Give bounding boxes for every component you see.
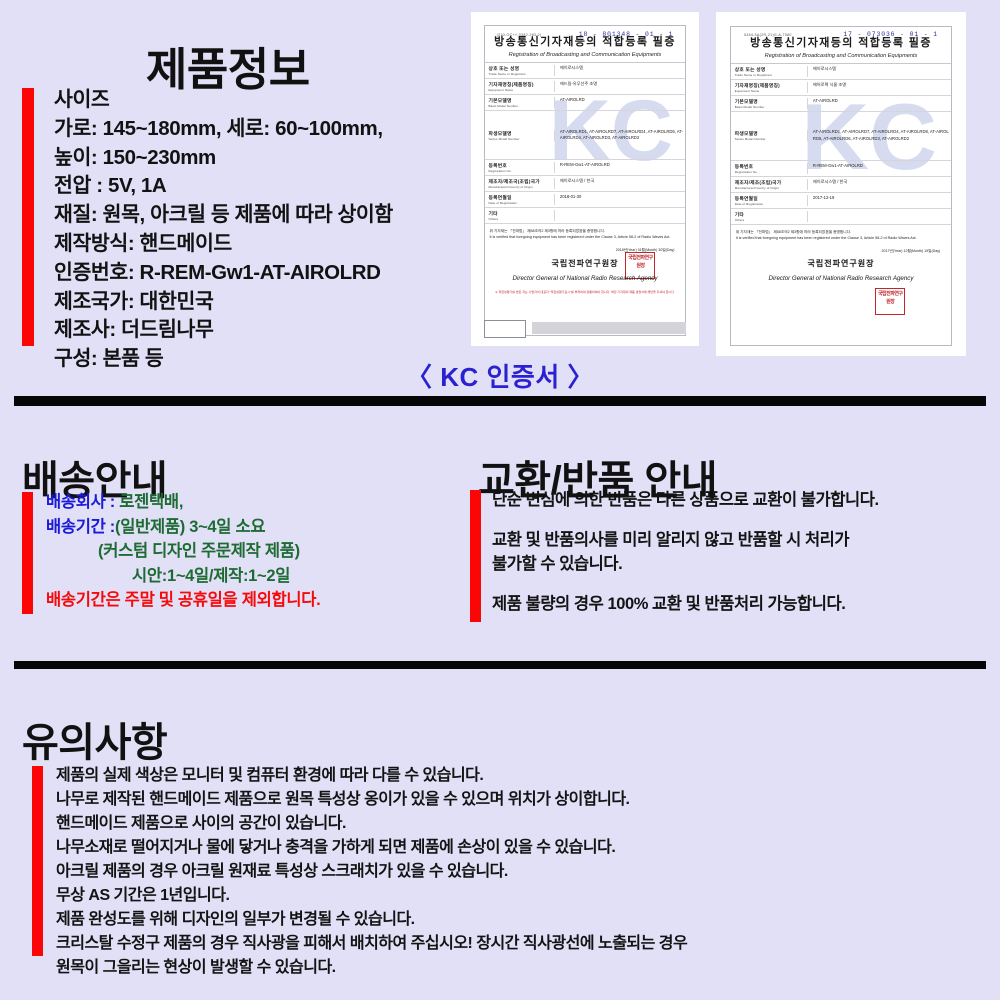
- certificate-field-row: 파생모델명Series Model NumberAT-AIROLRD1, AT-…: [485, 111, 686, 160]
- certificate-field-label: 기자재명칭(제품명칭)Equipment Name: [731, 82, 808, 93]
- certificate-form-code: (210-OC++-0382-283.2): [497, 33, 542, 37]
- certificate-field-label-en: Date of Registration: [735, 202, 807, 206]
- certificate-title-en: Registration of Broadcasting and Communi…: [485, 52, 686, 63]
- certificate-field-row: 등록번호Registration No.R-REM-Gw1-AT-AIROLRD: [731, 161, 952, 177]
- certificate-title-en: Registration of Broadcasting and Communi…: [731, 53, 952, 64]
- certificate-field-row: 등록번호Registration No.R-REM-Gw1-AT-AIROLRD: [485, 160, 686, 176]
- shipping-line-label: 배송회사 :: [46, 493, 119, 511]
- certificate-field-label-en: Series Model Number: [735, 137, 807, 141]
- certificate-field-label-en: Equipment Name: [735, 89, 807, 93]
- certificate-field-label-ko: 등록연월일: [735, 195, 807, 202]
- certificate-field-label-ko: 파생모델명: [735, 130, 807, 137]
- certificate-field-label: 등록번호Registration No.: [731, 163, 808, 174]
- certificate-field-label-en: Registration No.: [489, 169, 554, 173]
- product-spec-line: 제작방식: 핸드메이드: [54, 230, 474, 259]
- product-spec-line: 높이: 150~230mm: [54, 144, 474, 173]
- product-spec-line: 전압 : 5V, 1A: [54, 172, 474, 201]
- certificate-field-table: 상호 또는 성명Trade Name or Registrant에이로시스템기자…: [731, 64, 952, 225]
- certificate-field-label-ko: 기본모델명: [735, 98, 807, 105]
- product-info-accent-bar: [22, 88, 34, 346]
- notice-line: 핸드메이드 제품으로 사이의 공간이 있습니다.: [56, 812, 996, 836]
- exchange-return-paragraph: 교환 및 반품의사를 미리 알리지 않고 반품할 시 처리가불가할 수 있습니다…: [492, 528, 992, 576]
- certificate-agency-ko: 국립전파연구원장: [736, 258, 947, 271]
- shipping-line-label: 배송기간은 주말 및 공휴일을 제외합니다.: [46, 591, 320, 609]
- certificate-field-label-en: Others: [489, 217, 554, 221]
- kc-certificate-right[interactable]: 5484-5A(2R-21)G.A-7080 17 - 073036 - 01 …: [716, 12, 966, 356]
- certificate-field-value: 에이로시스템 / 한국: [555, 178, 686, 189]
- certificate-field-value: 에이로시스템: [808, 66, 951, 77]
- official-seal-stamp: 국립전파연구원장: [875, 288, 905, 315]
- certificate-field-label: 상호 또는 성명Trade Name or Registrant: [485, 65, 555, 76]
- certificate-agency-en: Director General of National Radio Resea…: [736, 274, 947, 284]
- certificate-field-label-ko: 기자재명칭(제품명칭): [489, 81, 554, 88]
- certificate-field-value: R-REM-Gw1-AT-AIROLRD: [555, 162, 686, 173]
- certificate-field-label: 제조자/제조(조립)국가Manufacturer/Country of Orig…: [731, 179, 808, 190]
- certificate-body: 5484-5A(2R-21)G.A-7080 17 - 073036 - 01 …: [730, 26, 953, 346]
- certificate-field-row: 기자재명칭(제품명칭)Equipment Name에어로젝 식물 조명: [731, 80, 952, 96]
- exchange-return-line: 불가할 수 있습니다.: [492, 552, 992, 576]
- notice-line: 원목이 그을리는 현상이 발생할 수 있습니다.: [56, 956, 996, 980]
- shipping-line-label: (커스텀 디자인 주문제작 제품): [98, 542, 300, 560]
- certificate-field-label-ko: 상호 또는 성명: [489, 65, 554, 72]
- exchange-return-paragraph: 제품 불량의 경우 100% 교환 및 반품처리 가능합니다.: [492, 592, 992, 616]
- product-spec-line: 제조국가: 대한민국: [54, 288, 474, 317]
- certificate-field-value: R-REM-Gw1-AT-AIROLRD: [808, 163, 951, 174]
- certificate-field-label: 기타Others: [485, 210, 555, 221]
- shipping-line-value: 로젠택배,: [119, 493, 183, 511]
- certificate-field-value: 에이로시스템: [555, 65, 686, 76]
- certificate-red-note: ※ 적합성평가를 받은 자는 사업자의 대표자 "적합성평가표시"를 부착하여 …: [490, 290, 681, 295]
- certificate-bottom-strip: [484, 320, 687, 336]
- exchange-return-list: 단순 변심에 의한 반품은 다른 상품으로 교환이 불가합니다.교환 및 반품의…: [492, 488, 992, 616]
- product-spec-line: 인증번호: R-REM-Gw1-AT-AIROLRD: [54, 259, 474, 288]
- certificate-field-label-ko: 파생모델명: [489, 130, 554, 137]
- notice-line: 제품의 실제 색상은 모니터 및 컴퓨터 환경에 따라 다를 수 있습니다.: [56, 764, 996, 788]
- certificate-field-label: 기본모델명Basic Model Number: [731, 98, 808, 109]
- certificate-field-row: 기타Others: [485, 208, 686, 224]
- shipping-info-list: 배송회사 : 로젠택배,배송기간 :(일반제품) 3~4일 소요(커스텀 디자인…: [46, 490, 466, 613]
- certificate-footer: 위 기자재는 「전파법」 제58조의2 제3항에 따라 등록되었음을 증명합니다…: [731, 225, 952, 284]
- certificate-field-value: [808, 211, 951, 222]
- certificate-field-value: AT-AIROLRD: [808, 98, 951, 109]
- certificate-field-label-ko: 등록번호: [735, 163, 807, 170]
- certificate-field-label-en: Basic Model Number: [489, 104, 554, 108]
- notices-list: 제품의 실제 색상은 모니터 및 컴퓨터 환경에 따라 다를 수 있습니다.나무…: [56, 764, 996, 980]
- certificate-form-code: 5484-5A(2R-21)G.A-7080: [744, 33, 792, 37]
- certificate-field-row: 기타Others: [731, 209, 952, 225]
- certificate-field-label-en: Trade Name or Registrant: [735, 73, 807, 77]
- product-spec-line: 사이즈: [54, 86, 474, 115]
- certificate-field-row: 등록연월일Date of Registration2017-12-19: [731, 193, 952, 209]
- certificate-field-label: 제조자/제조국(조립)국가Manufacturer/Country of Ori…: [485, 178, 555, 189]
- certificate-body: (210-OC++-0382-283.2) 18 - 801348 - 01 -…: [484, 25, 687, 336]
- certificate-field-label-en: Manufacturer/Country of Origin: [735, 186, 807, 190]
- section-divider-top: [14, 396, 986, 406]
- notice-line: 무상 AS 기간은 1년입니다.: [56, 884, 996, 908]
- shipping-info-line: 시안:1~4일/제작:1~2일: [46, 564, 466, 589]
- certificate-field-row: 상호 또는 성명Trade Name or Registrant에이로시스템: [731, 64, 952, 80]
- certificate-field-row: 등록연월일Date of Registration2018-01-30: [485, 192, 686, 208]
- shipping-info-line: 배송회사 : 로젠택배,: [46, 490, 466, 515]
- certificate-field-label: 기자재명칭(제품명칭)Equipment Name: [485, 81, 555, 92]
- certificate-field-label-ko: 등록연월일: [489, 194, 554, 201]
- product-spec-list: 사이즈가로: 145~180mm, 세로: 60~100mm,높이: 150~2…: [54, 86, 474, 374]
- product-spec-line: 제조사: 더드림나무: [54, 316, 474, 345]
- certificate-field-label-en: Registration No.: [735, 170, 807, 174]
- product-spec-line: 가로: 145~180mm, 세로: 60~100mm,: [54, 115, 474, 144]
- certificate-bottom-box: [484, 320, 526, 338]
- certificate-field-row: 파생모델명Series Model NumberAT-AIROLRD1, AT-…: [731, 112, 952, 161]
- certificate-field-value: 2018-01-30: [555, 194, 686, 205]
- certificate-bottom-bar: [532, 322, 687, 334]
- certificate-field-table: 상호 또는 성명Trade Name or Registrant에이로시스템기자…: [485, 63, 686, 224]
- product-spec-line: 재질: 원목, 아크릴 등 제품에 따라 상이함: [54, 201, 474, 230]
- certificate-field-label-ko: 상호 또는 성명: [735, 66, 807, 73]
- exchange-return-line: 단순 변심에 의한 반품은 다른 상품으로 교환이 불가합니다.: [492, 488, 992, 512]
- certificate-field-label: 기타Others: [731, 211, 808, 222]
- exchange-return-line: 교환 및 반품의사를 미리 알리지 않고 반품할 시 처리가: [492, 528, 992, 552]
- certificate-field-row: 기본모델명Basic Model NumberAT-AIROLRD: [485, 95, 686, 111]
- notices-accent-bar: [32, 766, 43, 956]
- certificate-field-row: 상호 또는 성명Trade Name or Registrant에이로시스템: [485, 63, 686, 79]
- certificate-field-label-en: Others: [735, 218, 807, 222]
- certificate-field-row: 기본모델명Basic Model NumberAT-AIROLRD: [731, 96, 952, 112]
- shipping-info-line: (커스텀 디자인 주문제작 제품): [46, 539, 466, 564]
- certificate-footer: 위 기자재는 「전파법」 제58조의2 제3항에 따라 등록되었음을 증명합니다…: [485, 224, 686, 294]
- certificate-field-label: 등록연월일Date of Registration: [731, 195, 808, 206]
- kc-certificate-caption: 〈 KC 인증서 〉: [0, 357, 1000, 394]
- notice-line: 크리스탈 수정구 제품의 경우 직사광을 피해서 배치하여 주십시오! 장시간 …: [56, 932, 996, 956]
- section-divider-bottom: [14, 661, 986, 669]
- certificate-field-label-en: Date of Registration: [489, 201, 554, 205]
- notice-line: 아크릴 제품의 경우 아크릴 원재료 특성상 스크래치가 있을 수 있습니다.: [56, 860, 996, 884]
- certificate-agency-ko: 국립전파연구원장: [490, 258, 681, 271]
- product-detail-page: 제품정보 사이즈가로: 145~180mm, 세로: 60~100mm,높이: …: [0, 0, 1000, 1000]
- exchange-return-accent-bar: [470, 490, 481, 622]
- certificate-field-value: [555, 210, 686, 221]
- shipping-info-line: 배송기간 :(일반제품) 3~4일 소요: [46, 515, 466, 540]
- certificate-field-label: 기본모델명Basic Model Number: [485, 97, 555, 108]
- certificate-field-row: 기자재명칭(제품명칭)Equipment Name에드림-유무선주 조명: [485, 79, 686, 95]
- certificate-field-label: 파생모델명Series Model Number: [485, 130, 555, 141]
- certificate-field-value: AT-AIROLRD1, AT-AIROLRD7, AT-AIROLRD4, A…: [808, 129, 951, 142]
- certificate-field-label-ko: 기타: [735, 211, 807, 218]
- shipping-line-label: 시안:1~4일/제작:1~2일: [132, 567, 290, 585]
- certificate-field-value: 2017-12-19: [808, 195, 951, 206]
- certificate-field-label-ko: 제조자/제조국(조립)국가: [489, 178, 554, 185]
- certificate-field-label-en: Trade Name or Registrant: [489, 72, 554, 76]
- certificate-field-value: AT-AIROLRD1, AT-AIROLRD7, AT-AIROLRD4, A…: [555, 129, 686, 142]
- certificate-field-label: 상호 또는 성명Trade Name or Registrant: [731, 66, 808, 77]
- notice-line: 나무소재로 떨어지거나 물에 닿거나 충격을 가하게 되면 제품에 손상이 있을…: [56, 836, 996, 860]
- certificate-field-label-ko: 등록번호: [489, 162, 554, 169]
- certificate-footer-en: It is verified that foregoing equipment …: [736, 236, 947, 242]
- certificate-footer-en: It is verified that foregoing equipment …: [490, 235, 681, 241]
- shipping-info-line: 배송기간은 주말 및 공휴일을 제외합니다.: [46, 588, 466, 613]
- certificate-field-label-ko: 기타: [489, 210, 554, 217]
- certificate-issue-date: 2018년(Year) 01월(Month) 30일(Day): [490, 248, 681, 254]
- certificate-field-label-ko: 제조자/제조(조립)국가: [735, 179, 807, 186]
- certificate-field-label: 등록연월일Date of Registration: [485, 194, 555, 205]
- certificate-field-label-en: Series Model Number: [489, 137, 554, 141]
- certificate-field-label-en: Basic Model Number: [735, 105, 807, 109]
- notices-title: 유의사항: [22, 719, 167, 767]
- notice-line: 나무로 제작된 핸드메이드 제품으로 원목 특성상 옹이가 있을 수 있으며 위…: [56, 788, 996, 812]
- certificate-field-label: 등록번호Registration No.: [485, 162, 555, 173]
- notice-line: 제품 완성도를 위해 디자인의 일부가 변경될 수 있습니다.: [56, 908, 996, 932]
- exchange-return-paragraph: 단순 변심에 의한 반품은 다른 상품으로 교환이 불가합니다.: [492, 488, 992, 512]
- certificate-field-value: 에이로시스템 / 한국: [808, 179, 951, 190]
- certificate-field-label-en: Equipment Name: [489, 88, 554, 92]
- certificate-field-value: 에드림-유무선주 조명: [555, 81, 686, 92]
- exchange-return-line: 제품 불량의 경우 100% 교환 및 반품처리 가능합니다.: [492, 592, 992, 616]
- certificate-field-label: 파생모델명Series Model Number: [731, 130, 808, 141]
- certificate-field-row: 제조자/제조국(조립)국가Manufacturer/Country of Ori…: [485, 176, 686, 192]
- certificate-field-value: 에어로젝 식물 조명: [808, 82, 951, 93]
- certificate-number: 18 - 801348 - 01 - 1: [579, 31, 674, 38]
- certificate-agency-en: Director General of National Radio Resea…: [490, 274, 681, 284]
- kc-certificate-left[interactable]: (210-OC++-0382-283.2) 18 - 801348 - 01 -…: [471, 12, 699, 346]
- shipping-line-value: (일반제품) 3~4일 소요: [115, 518, 265, 536]
- certificate-issue-date: 2017년(Year) 12월(Month) 19일(Day): [736, 249, 947, 255]
- certificate-number: 17 - 073036 - 01 - 1: [843, 31, 938, 38]
- certificate-field-label-ko: 기본모델명: [489, 97, 554, 104]
- certificate-field-label-en: Manufacturer/Country of Origin: [489, 185, 554, 189]
- certificate-field-row: 제조자/제조(조립)국가Manufacturer/Country of Orig…: [731, 177, 952, 193]
- certificate-field-value: AT-AIROLRD: [555, 97, 686, 108]
- shipping-accent-bar: [22, 492, 33, 614]
- shipping-line-label: 배송기간 :: [46, 518, 115, 536]
- certificate-field-label-ko: 기자재명칭(제품명칭): [735, 82, 807, 89]
